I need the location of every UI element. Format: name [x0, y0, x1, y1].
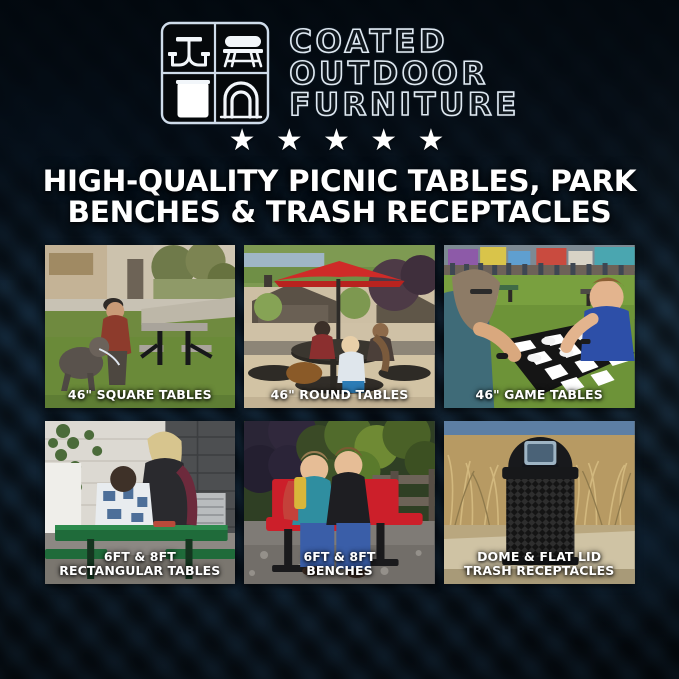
caption-line-1: 46" SQUARE TABLES — [49, 388, 232, 402]
park-bench-icon — [223, 36, 263, 66]
headline-line-2: BENCHES & TRASH RECEPTACLES — [28, 197, 651, 228]
product-caption-round-tables: 46" ROUND TABLES — [244, 388, 435, 402]
product-tile-trash-receptacles[interactable]: DOME & FLAT LID TRASH RECEPTACLES — [444, 421, 635, 584]
product-tile-game-tables[interactable]: 46" GAME TABLES — [444, 245, 635, 408]
brand-name-line-3: FURNITURE — [289, 90, 520, 120]
caption-line-1: DOME & FLAT LID — [448, 550, 631, 564]
product-caption-square-tables: 46" SQUARE TABLES — [45, 388, 236, 402]
product-grid: 46" SQUARE TABLES — [45, 245, 635, 584]
caption-line-1: 6FT & 8FT — [49, 550, 232, 564]
headline-line-1: HIGH-QUALITY PICNIC TABLES, PARK — [28, 166, 651, 197]
product-caption-benches: 6FT & 8FT BENCHES — [244, 550, 435, 578]
product-photo-square-tables — [45, 245, 236, 408]
product-tile-round-tables[interactable]: 46" ROUND TABLES — [244, 245, 435, 408]
caption-line-2: TRASH RECEPTACLES — [448, 564, 631, 578]
brand-name-line-1: COATED — [289, 27, 520, 57]
product-caption-game-tables: 46" GAME TABLES — [444, 388, 635, 402]
brand-lockup: COATED OUTDOOR FURNITURE — [0, 0, 679, 124]
caption-line-2: RECTANGULAR TABLES — [49, 564, 232, 578]
product-caption-rectangular-tables: 6FT & 8FT RECTANGULAR TABLES — [45, 550, 236, 578]
star-rating: ★ ★ ★ ★ ★ — [0, 126, 679, 162]
product-photo-game-tables — [444, 245, 635, 408]
product-photo-round-tables — [244, 245, 435, 408]
product-tile-square-tables[interactable]: 46" SQUARE TABLES — [45, 245, 236, 408]
trash-receptacle-icon — [176, 80, 210, 117]
product-caption-trash-receptacles: DOME & FLAT LID TRASH RECEPTACLES — [444, 550, 635, 578]
brand-name-line-2: OUTDOOR — [289, 59, 520, 89]
caption-line-1: 46" GAME TABLES — [448, 388, 631, 402]
caption-line-2: BENCHES — [248, 564, 431, 578]
brand-logo-mark — [159, 21, 271, 125]
promo-poster: COATED OUTDOOR FURNITURE ★ ★ ★ ★ ★ HIGH-… — [0, 0, 679, 679]
product-tile-benches[interactable]: 6FT & 8FT BENCHES — [244, 421, 435, 584]
poster-content: COATED OUTDOOR FURNITURE ★ ★ ★ ★ ★ HIGH-… — [0, 0, 679, 679]
caption-line-1: 6FT & 8FT — [248, 550, 431, 564]
caption-line-1: 46" ROUND TABLES — [248, 388, 431, 402]
page-title: HIGH-QUALITY PICNIC TABLES, PARK BENCHES… — [0, 162, 679, 229]
product-tile-rectangular-tables[interactable]: 6FT & 8FT RECTANGULAR TABLES — [45, 421, 236, 584]
brand-wordmark: COATED OUTDOOR FURNITURE — [289, 25, 520, 120]
